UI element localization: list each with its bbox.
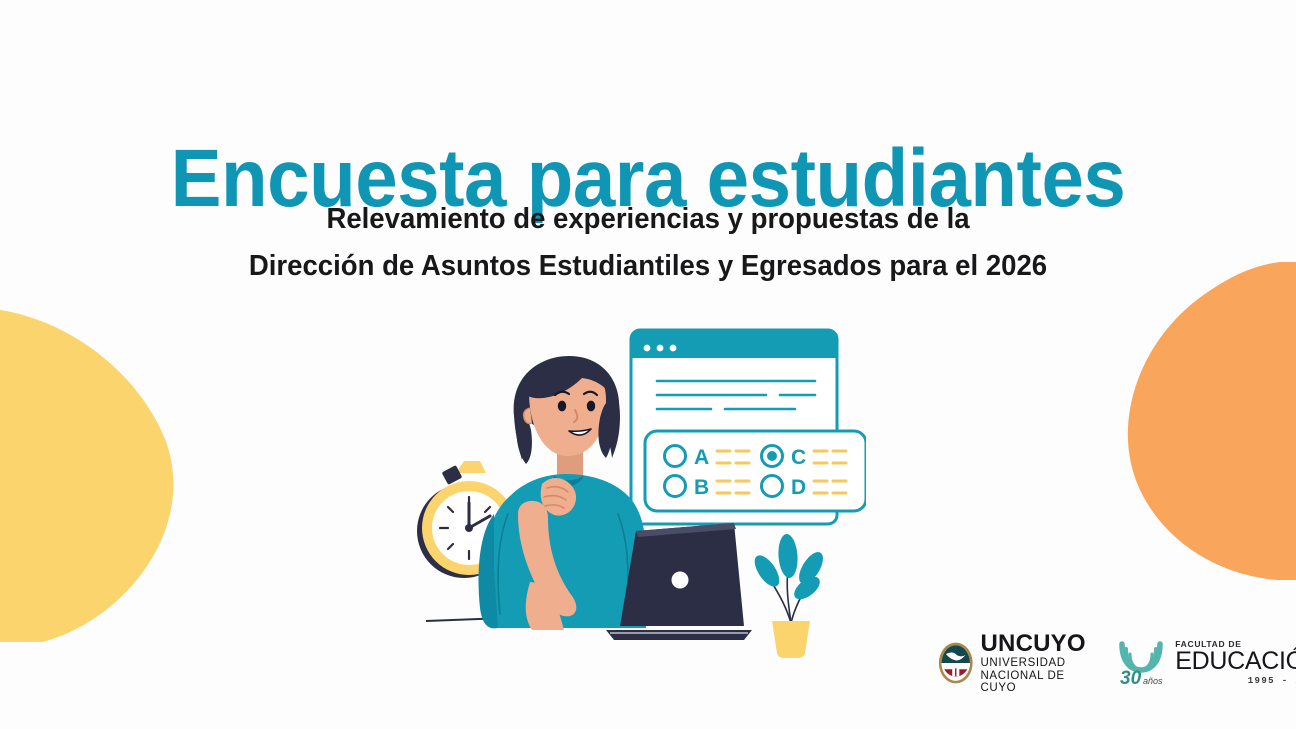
survey-options-card: A B C <box>645 431 866 511</box>
potted-plant-icon <box>750 533 828 658</box>
window-dot-1 <box>644 345 651 352</box>
option-label-b: B <box>694 476 709 499</box>
uncuyo-logo: UNCUYO UNIVERSIDAD NACIONAL DE CUYO <box>938 632 1090 695</box>
eye-right <box>587 401 595 412</box>
poster-canvas: Encuesta para estudiantes Relevamiento d… <box>0 0 1296 729</box>
facultad-wordmark: FACULTAD DE EDUCACIÓN 1995 - 2025 <box>1175 640 1296 687</box>
facultad-wave-icon: 30 años <box>1116 639 1168 687</box>
option-label-c: C <box>791 446 806 469</box>
survey-illustration: A B C <box>414 318 866 666</box>
uncuyo-name: UNCUYO <box>981 632 1091 656</box>
uncuyo-line-2: NACIONAL DE CUYO <box>981 671 1091 694</box>
radio-option-c-selected-dot <box>767 451 777 461</box>
radio-option-a[interactable] <box>665 446 686 467</box>
facultad-name: EDUCACIÓN <box>1175 649 1296 674</box>
logo-bar: UNCUYO UNIVERSIDAD NACIONAL DE CUYO 30 a… <box>938 634 1238 692</box>
radio-option-d[interactable] <box>762 476 783 497</box>
window-dot-3 <box>670 345 677 352</box>
subtitle-line-2: Dirección de Asuntos Estudiantiles y Egr… <box>32 243 1263 290</box>
subtitle-line-1: Relevamiento de experiencias y propuesta… <box>32 196 1263 243</box>
anniversary-word: años <box>1143 676 1163 686</box>
anniversary-number: 30 <box>1120 668 1142 687</box>
laptop-logo <box>672 572 689 589</box>
window-dot-2 <box>657 345 664 352</box>
person-figure <box>479 356 646 630</box>
decorative-blob-right <box>1120 262 1296 580</box>
uncuyo-line-1: UNIVERSIDAD <box>981 658 1091 670</box>
uncuyo-wordmark: UNCUYO UNIVERSIDAD NACIONAL DE CUYO <box>981 632 1091 695</box>
option-label-a: A <box>694 446 709 469</box>
option-label-d: D <box>791 476 806 499</box>
facultad-years: 1995 - 2025 <box>1175 677 1296 686</box>
eye-left <box>558 401 566 412</box>
uncuyo-crest-icon <box>938 639 974 687</box>
facultad-logo: 30 años FACULTAD DE EDUCACIÓN 1995 - 202… <box>1116 639 1296 687</box>
radio-option-b[interactable] <box>665 476 686 497</box>
decorative-blob-left <box>0 306 178 642</box>
page-subtitle: Relevamiento de experiencias y propuesta… <box>32 196 1263 290</box>
